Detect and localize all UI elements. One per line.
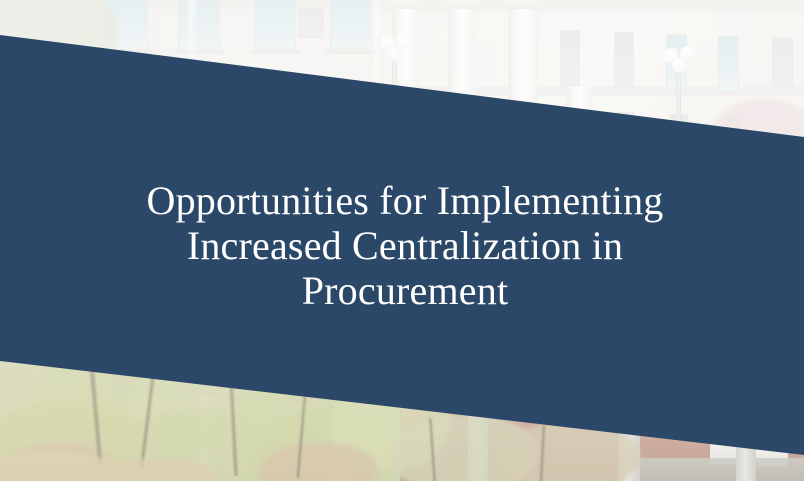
window-sill (326, 50, 376, 54)
title-slide: Opportunities for Implementing Increased… (0, 0, 804, 481)
building-window (254, 0, 296, 50)
building-window (772, 37, 793, 93)
lamppost-globe (388, 46, 403, 61)
title-container: Opportunities for Implementing Increased… (0, 178, 804, 313)
window-sill (250, 50, 300, 54)
page-title: Opportunities for Implementing Increased… (6, 178, 804, 313)
pavement (640, 458, 804, 481)
building-window (330, 0, 372, 49)
window-sill (174, 50, 224, 54)
building-window (718, 36, 739, 92)
building-window (560, 30, 580, 86)
lamppost-globe (672, 58, 687, 73)
column-capital (388, 0, 422, 9)
building-plaque (298, 8, 324, 38)
building-window (178, 0, 220, 50)
column-capital (444, 0, 480, 9)
column-capital (504, 0, 542, 9)
building-window (614, 32, 634, 88)
